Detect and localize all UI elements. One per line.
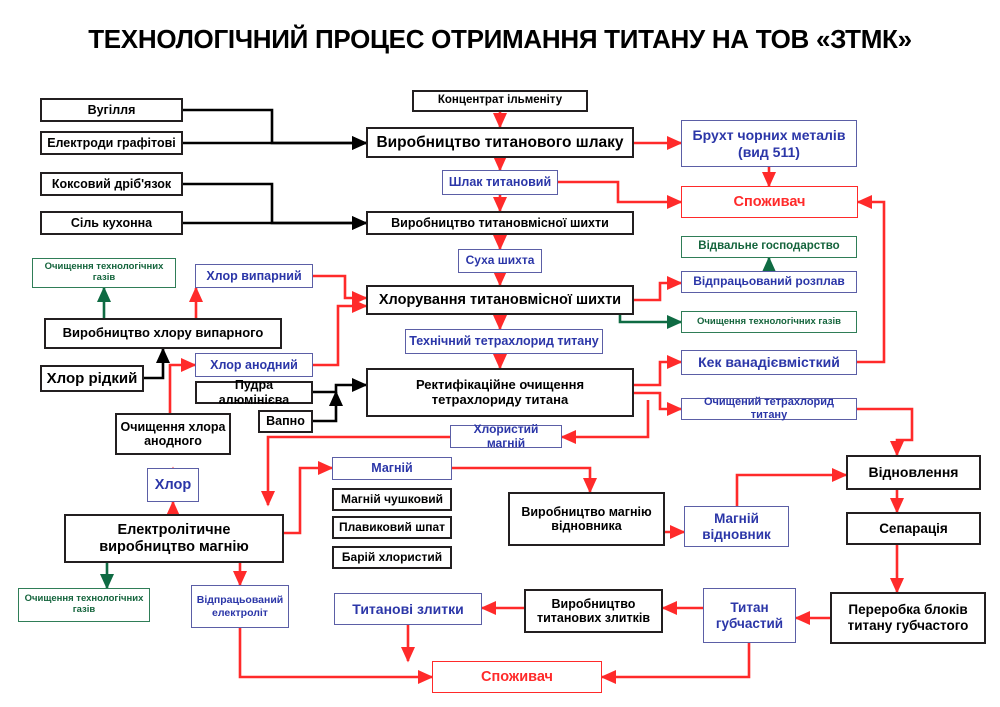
node-ochyshchennia-haziv-right[interactable]: Очищення технологічних газів [681,311,857,333]
node-mahnii-vidnovnyk[interactable]: Магній відновник [684,506,789,547]
diagram-canvas: ТЕХНОЛОГІЧНИЙ ПРОЦЕС ОТРИМАННЯ ТИТАНУ НА… [0,0,1000,707]
node-khlor-vyparnyi[interactable]: Хлор випарний [195,264,313,288]
node-vyrobnytstvo-khloru-vyparnoho[interactable]: Виробництво хлору випарного [44,318,282,349]
node-spozhyvach-bottom[interactable]: Споживач [432,661,602,693]
node-tekhnichnyi-tetrakhlorid[interactable]: Технічний тетрахлорид титану [405,329,603,354]
node-mahnii[interactable]: Магній [332,457,452,480]
node-plavykovyi-shpat[interactable]: Плавиковий шпат [332,516,452,539]
node-rektyfikatsiine-ochyshchennia[interactable]: Ректифікаційне очищення тетрахлориду тит… [366,368,634,417]
node-ochyshchennia-haziv-bottomleft[interactable]: Очищення технологічних газів [18,588,150,622]
node-vyrobnytstvo-tytanovykh-zlytkiv[interactable]: Виробництво титанових злитків [524,589,663,633]
node-vidpratsovanyi-elektrolit[interactable]: Відпрацьований електроліт [191,585,289,628]
node-vugillia[interactable]: Вугілля [40,98,183,122]
node-ochyshchenyi-tetrakhlorid[interactable]: Очищений тетрахлорид титану [681,398,857,420]
node-vyrobnytstvo-tytanovmisnoi-shykhty[interactable]: Виробництво титановмісної шихти [366,211,634,235]
page-title: ТЕХНОЛОГІЧНИЙ ПРОЦЕС ОТРИМАННЯ ТИТАНУ НА… [0,24,1000,55]
node-koksovyi-dribiazok[interactable]: Коксовий дріб'язок [40,172,183,196]
node-separatsiia[interactable]: Сепарація [846,512,981,545]
node-khlor-ridkyi[interactable]: Хлор рідкий [40,365,144,392]
node-shlak-tytanovyi[interactable]: Шлак титановий [442,170,558,195]
node-ochyshchennia-khlora-anodnoho[interactable]: Очищення хлора анодного [115,413,231,455]
node-vidnovlennia[interactable]: Відновлення [846,455,981,490]
node-khlorystyi-mahnii[interactable]: Хлористий магній [450,425,562,448]
node-tytanovi-zlytky[interactable]: Титанові злитки [334,593,482,625]
node-sil-kukhonna[interactable]: Сіль кухонна [40,211,183,235]
node-vapno[interactable]: Вапно [258,410,313,433]
node-sukha-shykhta[interactable]: Суха шихта [458,249,542,273]
node-kontsentrat-ilmenitu[interactable]: Концентрат ільменіту [412,90,588,112]
node-pudra-aliuminiieva[interactable]: Пудра алюмінієва [195,381,313,404]
node-vidpratsovanyi-rozplav[interactable]: Відпрацьований розплав [681,271,857,293]
node-ochyshchennia-haziv-topleft[interactable]: Очищення технологічних газів [32,258,176,288]
node-vidvalne-hospodarstvo[interactable]: Відвальне господарство [681,236,857,258]
node-brukht-chornykh-metaliv[interactable]: Брухт чорних металів (вид 511) [681,120,857,167]
node-barii-khlorystyi[interactable]: Барій хлористий [332,546,452,569]
node-tytan-hubchastyi[interactable]: Титан губчастий [703,588,796,643]
node-vyrobnytstvo-mahniiu-vidnovnyka[interactable]: Виробництво магнію відновника [508,492,665,546]
node-vyrobnytstvo-tytanovoho-shlaku[interactable]: Виробництво титанового шлаку [366,127,634,158]
node-mahnii-chushkovyi[interactable]: Магній чушковий [332,488,452,511]
node-kek-vanadiievmistkyi[interactable]: Кек ванадієвмісткий [681,350,857,375]
node-spozhyvach-top[interactable]: Споживач [681,186,858,218]
node-pererobka-blokiv[interactable]: Переробка блоків титану губчастого [830,592,986,644]
node-khloruvannia-tytanovmisnoi-shykhty[interactable]: Хлорування титановмісної шихти [366,285,634,315]
node-khlor-anodnyi[interactable]: Хлор анодний [195,353,313,377]
node-khlor[interactable]: Хлор [147,468,199,502]
node-elektrolitychne-vyrobnytstvo-mahniiu[interactable]: Електролітичне виробництво магнію [64,514,284,563]
node-elektrody-hrafitovi[interactable]: Електроди графітові [40,131,183,155]
